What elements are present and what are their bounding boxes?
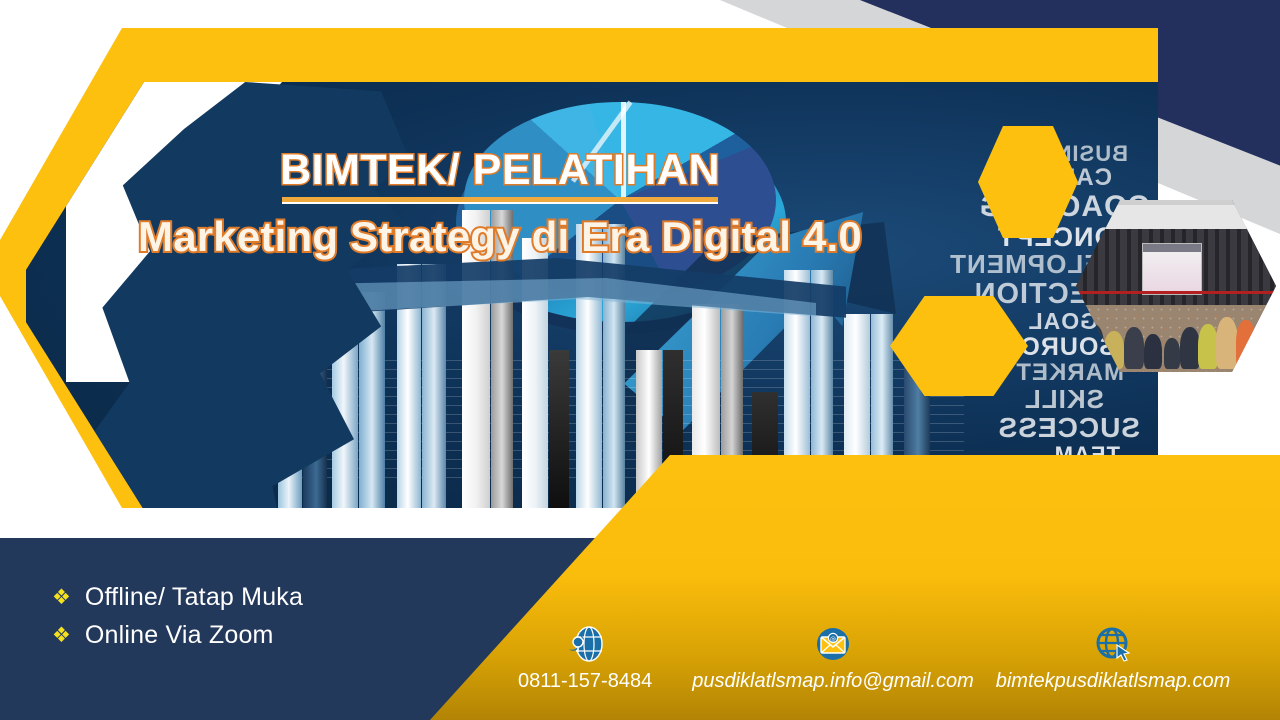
contact-item-2[interactable]: bimtekpusdiklatlsmap.com <box>996 624 1231 693</box>
title-underline <box>282 197 718 202</box>
envelope-email-icon: @ <box>813 624 853 664</box>
seminar-attendee <box>1198 324 1218 369</box>
hexagon-frame-border: BUSINESSCAREERCOACHINGCONCEPTDEVELOPMENT… <box>0 28 1158 508</box>
contact-list: 0811-157-8484@pusdiklatlsmap.info@gmail.… <box>430 620 1280 720</box>
banner-canvas: BUSINESSCAREERCOACHINGCONCEPTDEVELOPMENT… <box>0 0 1280 720</box>
contact-item-0[interactable]: 0811-157-8484 <box>518 624 652 693</box>
diamond-cluster-icon: ❖ <box>52 587 71 608</box>
seminar-attendee <box>1164 338 1180 369</box>
page-title-secondary: Marketing Strategy di Era Digital 4.0 <box>0 213 1000 261</box>
svg-text:@: @ <box>830 636 836 643</box>
contact-item-label[interactable]: 0811-157-8484 <box>518 670 652 693</box>
mode-item-0: ❖Offline/ Tatap Muka <box>52 583 303 612</box>
seminar-attendee <box>1144 334 1162 368</box>
seminar-attendee <box>1124 327 1144 368</box>
globe-phone-icon <box>565 624 605 664</box>
seminar-attendee <box>1254 324 1274 369</box>
contact-item-label[interactable]: pusdiklatlsmap.info@gmail.com <box>692 670 974 693</box>
wall-accent-stripe <box>1076 291 1276 294</box>
seminar-attendee <box>1236 320 1256 368</box>
mode-item-1: ❖Online Via Zoom <box>52 621 303 650</box>
chart-bar <box>549 350 569 510</box>
projector-screen <box>1142 243 1202 295</box>
seminar-attendee <box>1216 317 1238 369</box>
contact-item-label[interactable]: bimtekpusdiklatlsmap.com <box>996 670 1231 693</box>
mode-item-label: Offline/ Tatap Muka <box>85 583 303 612</box>
page-title-primary: BIMTEK/ PELATIHAN <box>274 146 726 201</box>
seminar-attendee <box>1180 327 1200 368</box>
diamond-cluster-icon: ❖ <box>52 625 71 646</box>
modes-list: ❖Offline/ Tatap Muka❖Online Via Zoom <box>52 583 303 659</box>
globe-cursor-website-icon <box>1093 624 1133 664</box>
headline-block: BIMTEK/ PELATIHAN Marketing Strategy di … <box>0 146 1000 261</box>
mode-item-label: Online Via Zoom <box>85 621 274 650</box>
contact-item-1[interactable]: @pusdiklatlsmap.info@gmail.com <box>692 624 974 693</box>
page-title-primary-text: BIMTEK/ PELATIHAN <box>280 146 720 194</box>
